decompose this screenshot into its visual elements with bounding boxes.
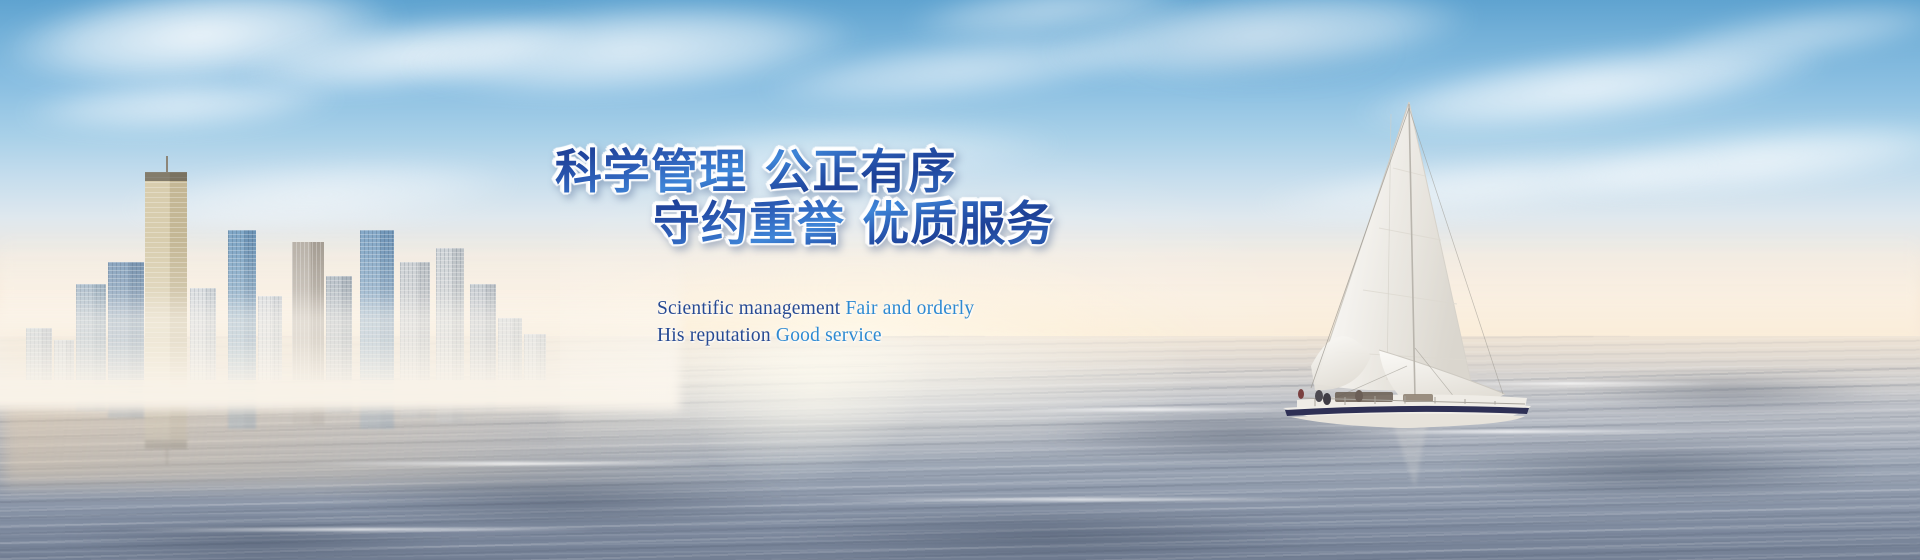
hero-banner: 科学管理 公正有序 守约重誉 优质服务 Scientific managemen… xyxy=(0,0,1920,560)
subtitle-line-2-part-2: Good service xyxy=(776,325,882,346)
subtitle-line-2: His reputation Good service xyxy=(657,325,882,347)
slogan-block: 科学管理 公正有序 守约重誉 优质服务 Scientific managemen… xyxy=(0,0,1920,560)
subtitle-line-1-part-1: Scientific management xyxy=(657,298,846,319)
subtitle-line-1: Scientific management Fair and orderly xyxy=(657,298,974,320)
subtitle-line-1-part-2: Fair and orderly xyxy=(846,298,975,319)
headline-line-2: 守约重誉 优质服务 xyxy=(653,185,1054,254)
subtitle-line-2-part-1: His reputation xyxy=(657,325,776,346)
